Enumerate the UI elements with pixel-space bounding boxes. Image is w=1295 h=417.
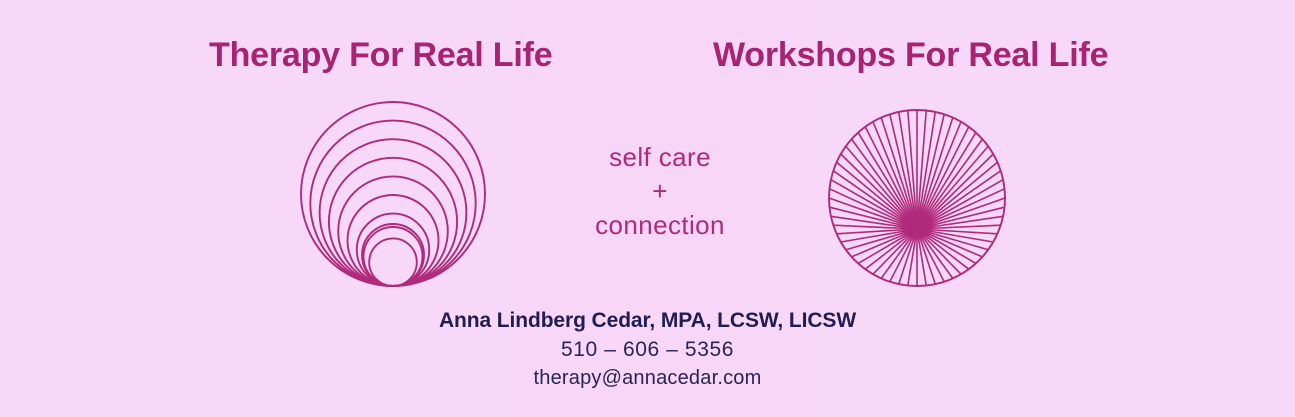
contact-email[interactable]: therapy@annacedar.com — [0, 365, 1295, 391]
contact-phone[interactable]: 510 – 606 – 5356 — [0, 337, 1295, 363]
heading-workshops-for-real-life: Workshops For Real Life — [713, 38, 1108, 72]
concentric-rings-graphic — [298, 101, 496, 287]
heading-therapy-for-real-life: Therapy For Real Life — [209, 38, 552, 72]
contact-block: Anna Lindberg Cedar, MPA, LCSW, LICSW 51… — [0, 308, 1295, 391]
tagline-line-3: connection — [515, 208, 805, 242]
tagline-line-1: self care — [515, 140, 805, 174]
radial-burst-graphic — [828, 107, 1008, 293]
banner-root: Therapy For Real Life Workshops For Real… — [0, 0, 1295, 417]
contact-name: Anna Lindberg Cedar, MPA, LCSW, LICSW — [0, 308, 1295, 334]
tagline-line-2: + — [515, 174, 805, 208]
tagline-self-care-connection: self care + connection — [515, 140, 805, 242]
